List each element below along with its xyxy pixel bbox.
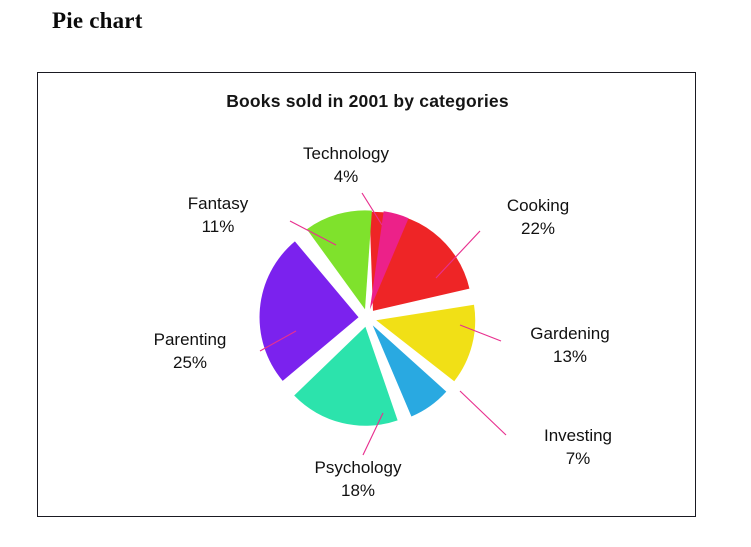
slice-label-name-investing: Investing [544,426,612,445]
slice-label-percent-parenting: 25% [173,353,207,372]
slice-label-name-parenting: Parenting [154,330,227,349]
slice-label-name-cooking: Cooking [507,196,569,215]
leader-line-investing [460,391,506,435]
slice-label-percent-technology: 4% [334,167,359,186]
chart-title: Books sold in 2001 by categories [226,91,509,111]
slice-label-name-psychology: Psychology [315,458,402,477]
page-title: Pie chart [52,8,143,34]
pie-chart: Books sold in 2001 by categories Cooking… [38,73,697,518]
pie-slices [260,210,476,425]
slice-label-name-gardening: Gardening [530,324,609,343]
slice-label-name-technology: Technology [303,144,390,163]
slice-label-name-fantasy: Fantasy [188,194,249,213]
slice-label-percent-fantasy: 11% [202,217,235,236]
slice-label-percent-psychology: 18% [341,481,375,500]
chart-frame: Books sold in 2001 by categories Cooking… [37,72,696,517]
slice-label-percent-investing: 7% [566,449,591,468]
slice-label-percent-cooking: 22% [521,219,555,238]
slice-label-percent-gardening: 13% [553,347,587,366]
